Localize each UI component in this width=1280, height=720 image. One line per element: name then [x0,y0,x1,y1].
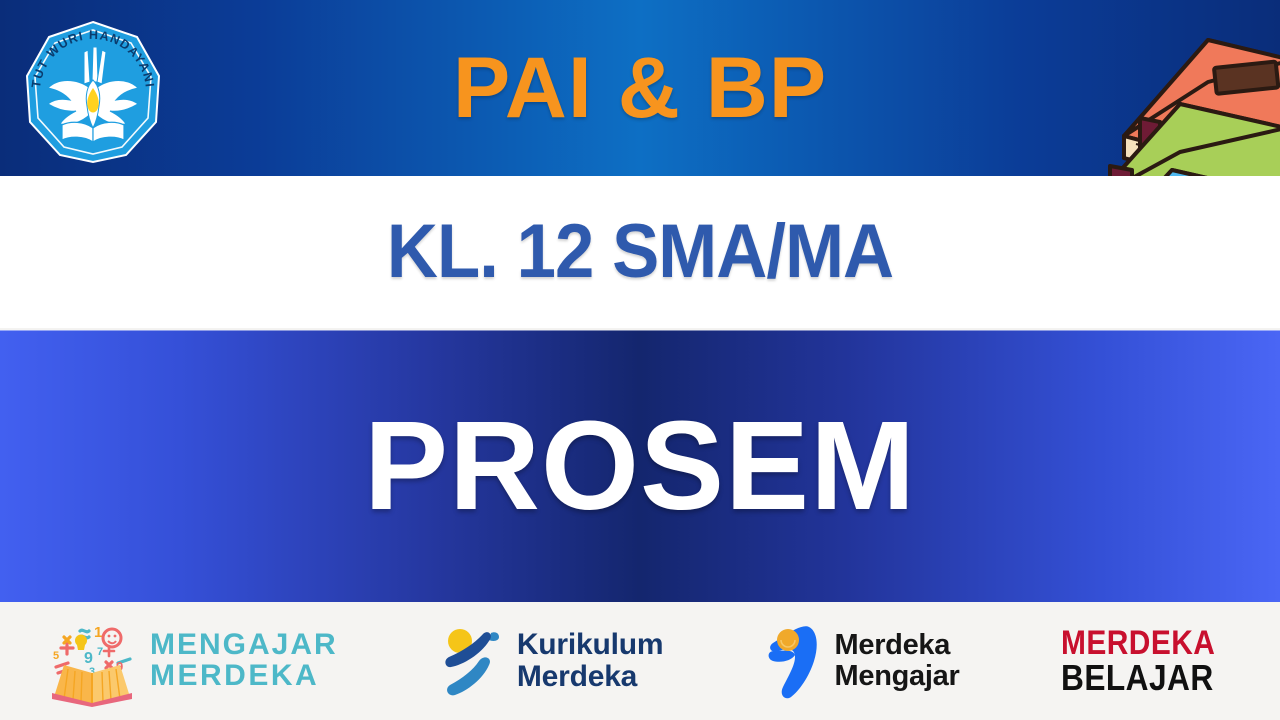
svg-text:5: 5 [53,650,59,662]
main-title-text: PROSEM [0,330,1280,602]
footer: 1 9 7 5 3 9 [0,602,1280,720]
open-book-with-symbols-icon: 1 9 7 5 3 9 [44,615,140,707]
kurikulum-merdeka-logo: Kurikulum Merdeka [439,621,664,701]
svg-text:1: 1 [94,624,102,641]
merdeka-belajar-logo: MERDEKA BELAJAR [1061,627,1236,696]
mengajar-merdeka-line2: MERDEKA [150,661,338,692]
merdeka-mengajar-line1: Merdeka [835,630,960,661]
merdeka-mengajar-logo: Merdeka Mengajar [765,621,960,701]
subtitle-text: KL. 12 SMA/MA [45,176,1235,328]
svg-text:9: 9 [84,650,93,667]
merdeka-mengajar-figure-icon [765,621,825,701]
kurikulum-merdeka-line2: Merdeka [517,661,664,693]
mengajar-merdeka-text: MENGAJAR MERDEKA [150,630,338,691]
kurikulum-merdeka-line1: Kurikulum [517,629,664,661]
merdeka-mengajar-text: Merdeka Mengajar [835,630,960,691]
merdeka-belajar-line1: MERDEKA [1061,627,1215,660]
merdeka-belajar-line2: BELAJAR [1061,660,1215,695]
poster-root: TUT WURI HANDAYANI PAI & [0,0,1280,720]
svg-text:7: 7 [97,646,103,658]
merdeka-mengajar-line2: Mengajar [835,661,960,692]
mengajar-merdeka-line1: MENGAJAR [150,630,338,661]
merdeka-belajar-text: MERDEKA BELAJAR [1061,627,1215,696]
kurikulum-figure-icon [439,621,505,701]
kurikulum-merdeka-text: Kurikulum Merdeka [517,629,664,693]
mengajar-merdeka-logo: 1 9 7 5 3 9 [44,615,338,707]
